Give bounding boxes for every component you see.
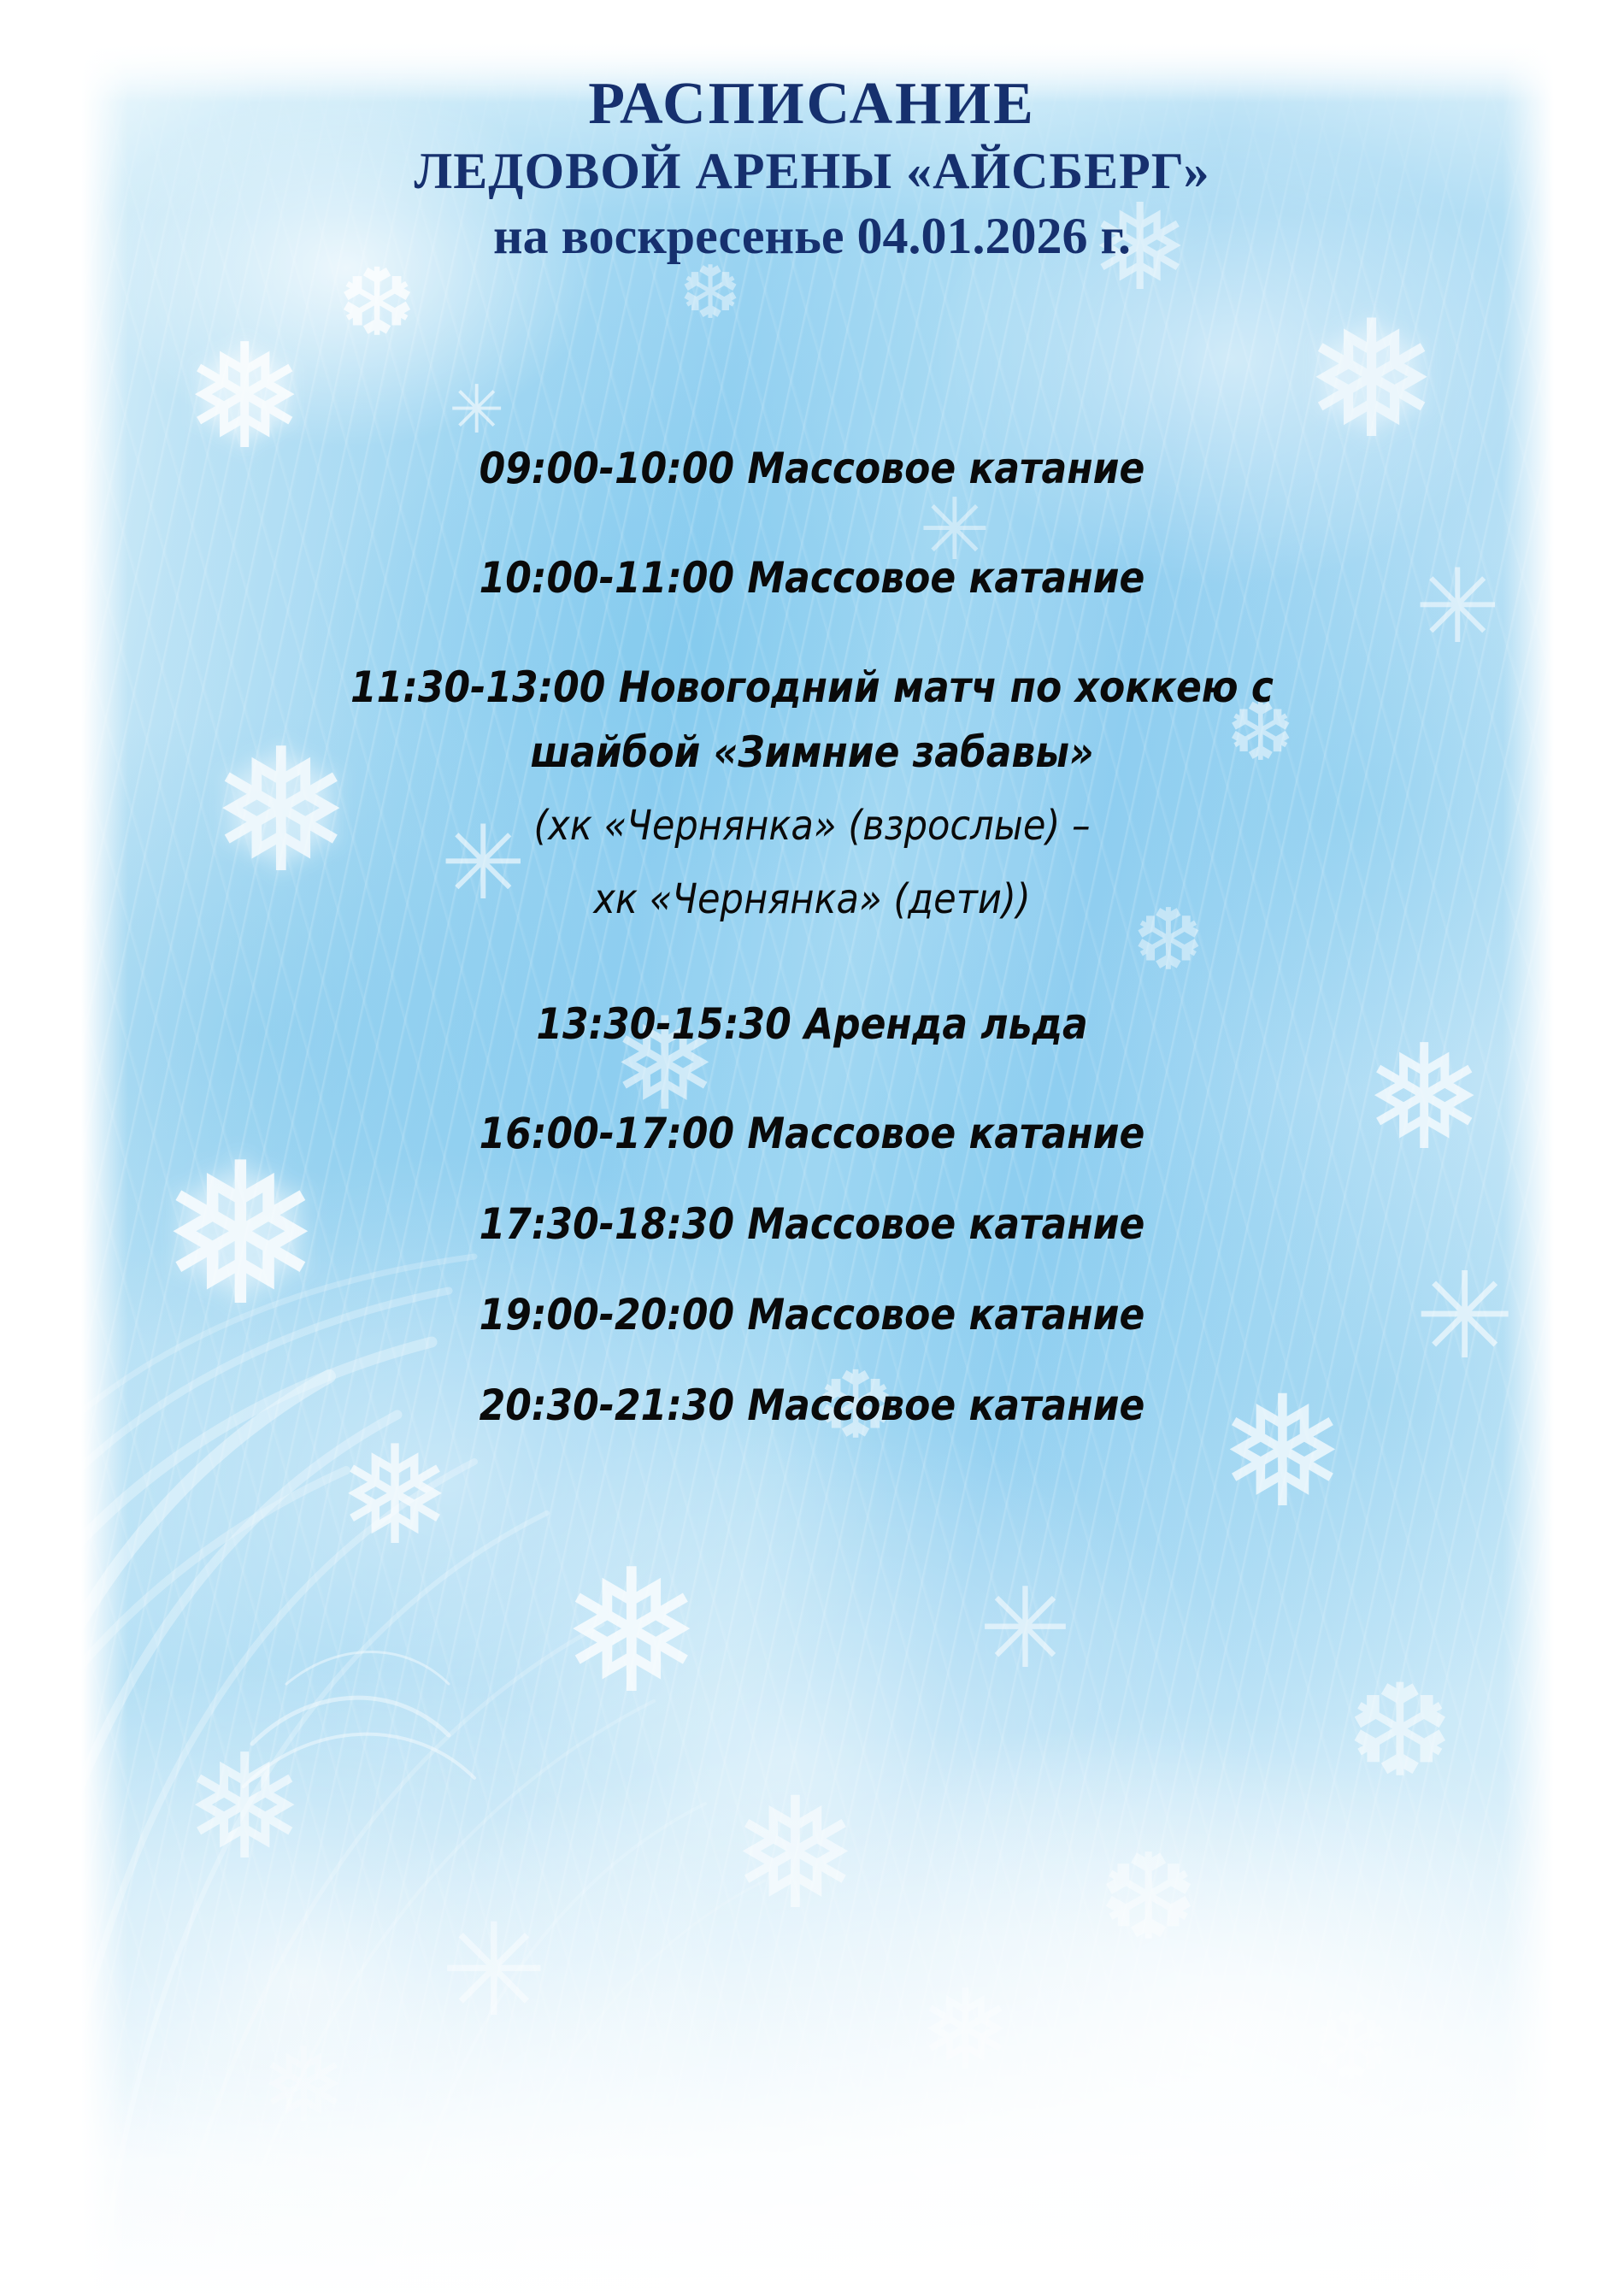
spacer [0,501,1624,545]
spacer [0,1347,1624,1373]
spacer [0,932,1624,992]
spacer [0,610,1624,655]
poster-content: РАСПИСАНИЕ ЛЕДОВОЙ АРЕНЫ «АЙСБЕРГ» на во… [0,0,1624,2296]
schedule-entry-text: 19:00-20:00 Массовое катание [97,1282,1527,1347]
schedule-poster: ❅ ❆ ✳ ❅ ❅ ✳ ❆ ✳ ❆ ❅ ✳ ❅ ❆ ❅ ❅ ✳ ❅ ❆ ❅ ❅ … [0,0,1624,2296]
schedule-entry-text: 10:00-11:00 Массовое катание [97,545,1527,610]
page-date-line: на воскресенье 04.01.2026 г. [0,203,1624,268]
schedule-entry-text-line2: шайбой «Зимние забавы» [97,720,1527,785]
spacer [0,1166,1624,1192]
schedule-entry-text: 09:00-10:00 Массовое катание [97,436,1527,501]
schedule-list: 09:00-10:00 Массовое катание 10:00-11:00… [0,436,1624,1438]
schedule-item-1900: 19:00-20:00 Массовое катание [0,1282,1624,1347]
schedule-entry-text: 17:30-18:30 Массовое катание [97,1192,1527,1257]
schedule-teams-line1: (хк «Чернянка» (взрослые) – [81,793,1543,858]
schedule-item-1330-rental: 13:30-15:30 Аренда льда [0,992,1624,1057]
spacer [0,1057,1624,1101]
schedule-item-1130-hockey: 11:30-13:00 Новогодний матч по хоккею с … [0,655,1624,932]
schedule-item-1730: 17:30-18:30 Массовое катание [0,1192,1624,1257]
spacer [0,785,1624,793]
schedule-item-2030: 20:30-21:30 Массовое катание [0,1373,1624,1438]
page-subtitle: ЛЕДОВОЙ АРЕНЫ «АЙСБЕРГ» [0,138,1624,203]
spacer [0,858,1624,867]
schedule-item-1000: 10:00-11:00 Массовое катание [0,545,1624,610]
poster-title-block: РАСПИСАНИЕ ЛЕДОВОЙ АРЕНЫ «АЙСБЕРГ» на во… [0,70,1624,268]
schedule-entry-text-line1: 11:30-13:00 Новогодний матч по хоккею с [97,655,1527,720]
schedule-teams-line2: хк «Чернянка» (дети)) [81,867,1543,932]
schedule-item-1600: 16:00-17:00 Массовое катание [0,1101,1624,1166]
page-title: РАСПИСАНИЕ [0,70,1624,138]
schedule-entry-text: 20:30-21:30 Массовое катание [97,1373,1527,1438]
schedule-entry-text: 16:00-17:00 Массовое катание [97,1101,1527,1166]
spacer [0,1257,1624,1282]
schedule-item-0900: 09:00-10:00 Массовое катание [0,436,1624,501]
schedule-entry-text: 13:30-15:30 Аренда льда [97,992,1527,1057]
